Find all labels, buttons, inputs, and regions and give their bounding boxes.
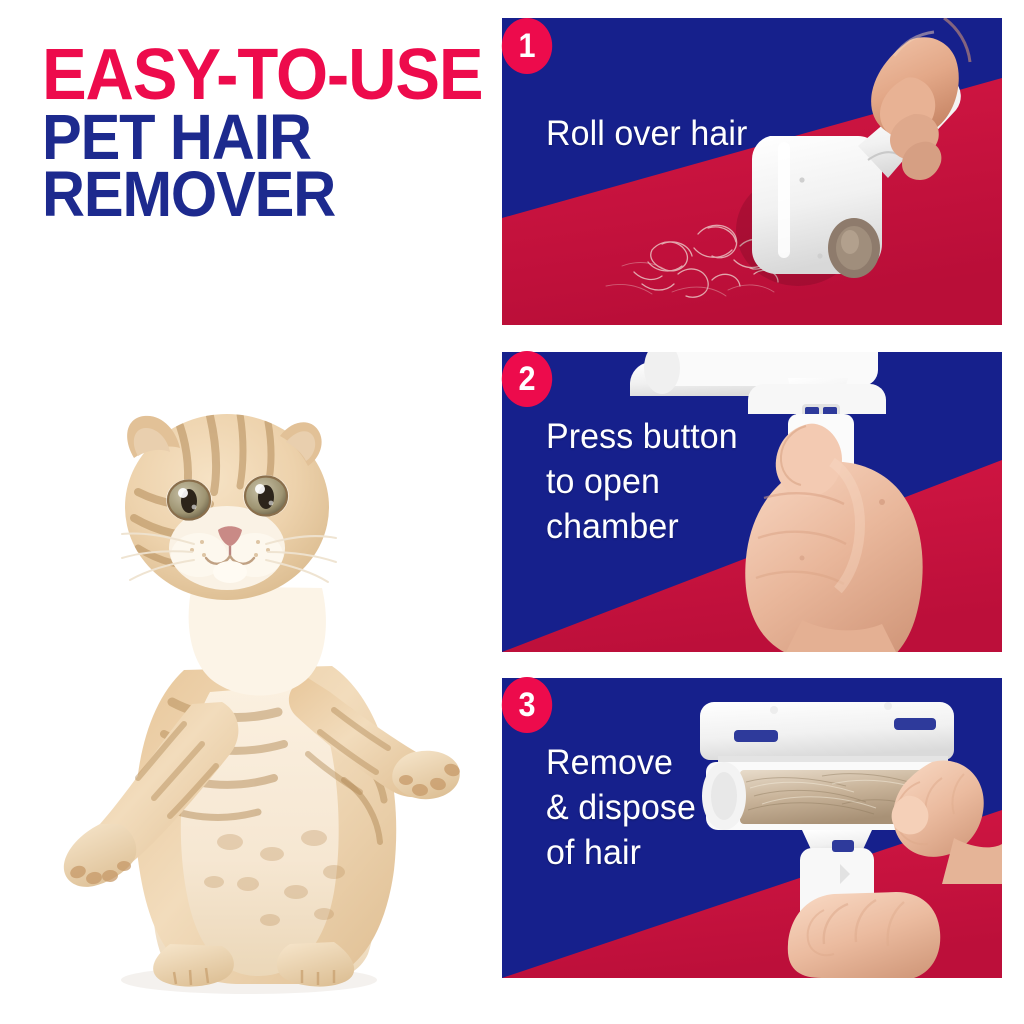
step-badge-3: 3 [502, 677, 552, 733]
headline-block: EASY-TO-USE PET HAIR REMOVER [42, 44, 482, 222]
step-panel-2[interactable]: Press button to open chamber [502, 352, 1002, 652]
step-2-caption: Press button to open chamber [546, 414, 738, 549]
step-badge-1: 1 [502, 18, 552, 74]
step-badge-2: 2 [502, 351, 552, 407]
headline-line-3: REMOVER [42, 166, 451, 222]
step-1-caption: Roll over hair [546, 111, 747, 156]
step-panel-1[interactable]: Roll over hair [502, 18, 1002, 325]
hero-cat-image [34, 372, 464, 997]
step-panel-3[interactable]: Remove & dispose of hair [502, 678, 1002, 978]
step-1-photo [502, 18, 1002, 325]
headline-line-1: EASY-TO-USE [42, 44, 451, 107]
step-3-caption: Remove & dispose of hair [546, 740, 696, 875]
